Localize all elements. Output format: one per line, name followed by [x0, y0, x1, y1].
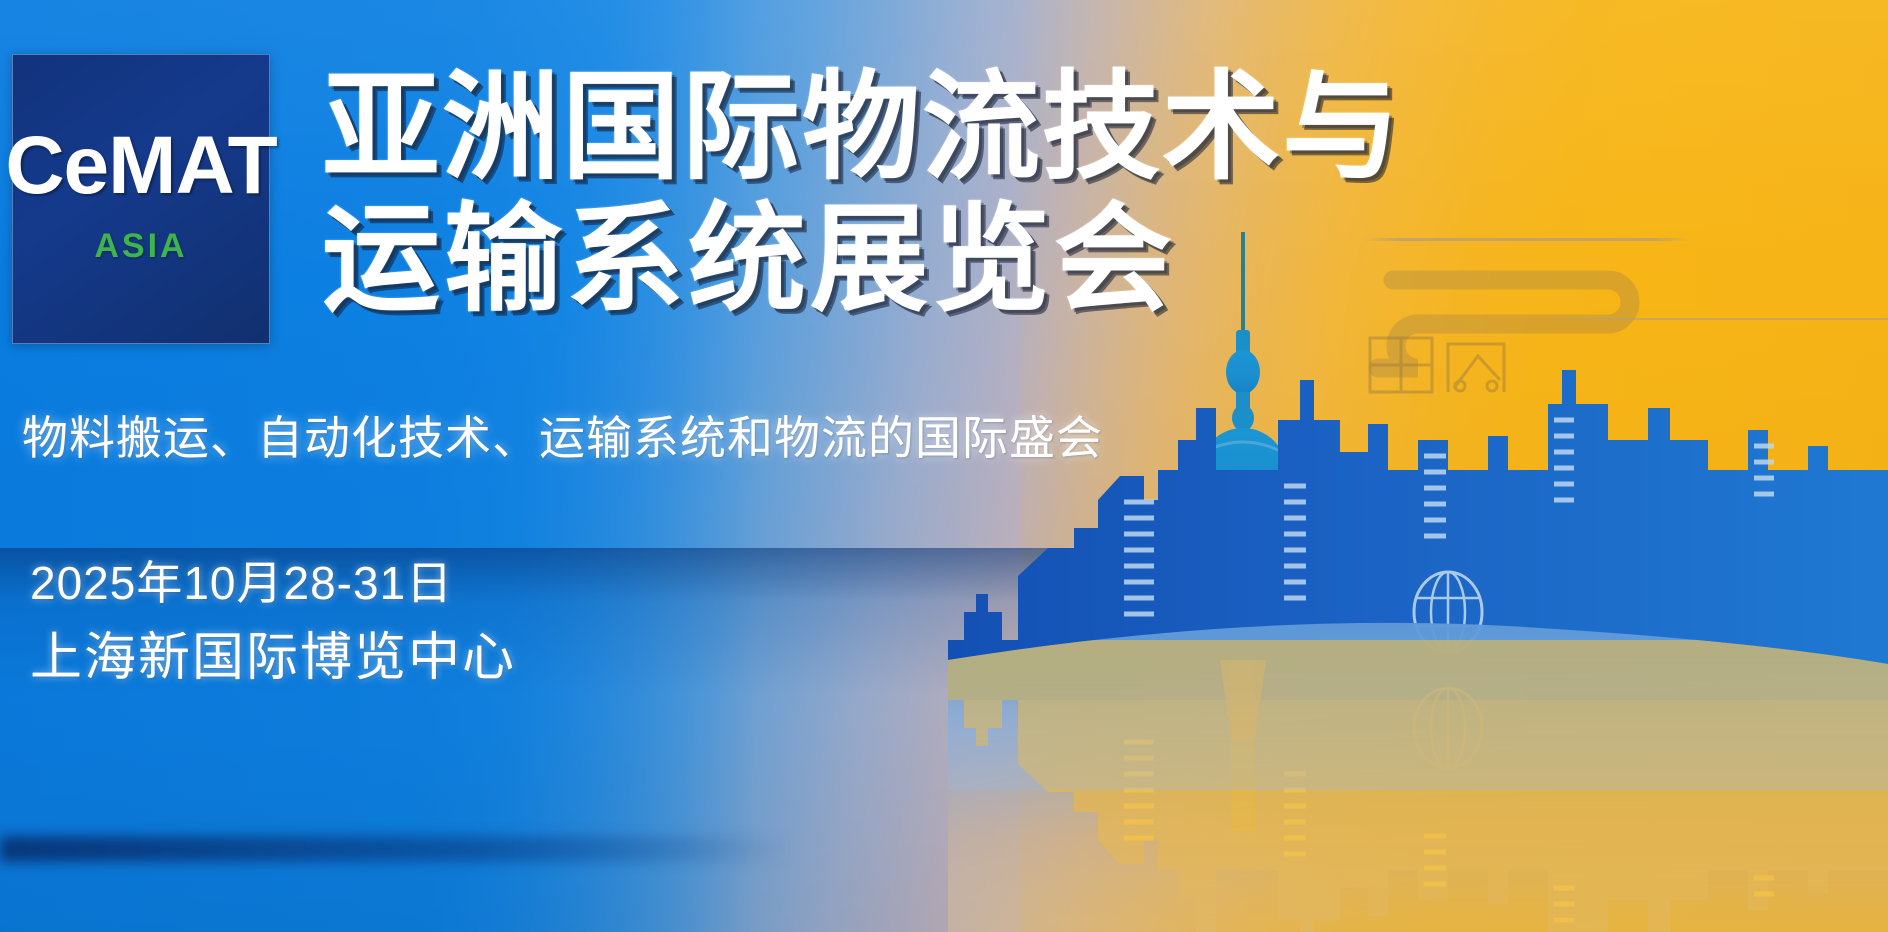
- headline-line-1: 亚洲国际物流技术与: [322, 62, 1572, 194]
- event-details: 2025年10月28-31日 上海新国际博览中心: [30, 548, 516, 697]
- decorative-rule-second: [1540, 318, 1888, 320]
- cemat-asia-banner: CeMAT ASIA 亚洲国际物流技术与 运输系统展览会 物料搬运、自动化技术、…: [0, 0, 1888, 932]
- event-venue: 上海新国际博览中心: [30, 619, 516, 697]
- headline-line-2: 运输系统展览会: [322, 194, 1572, 326]
- forklift-icon: [1448, 344, 1504, 392]
- cemat-logo: CeMAT ASIA: [12, 54, 270, 344]
- subtitle: 物料搬运、自动化技术、运输系统和物流的国际盛会: [22, 402, 1103, 468]
- logo-brand-text: CeMAT: [5, 125, 276, 207]
- logo-region-text: ASIA: [94, 229, 187, 263]
- event-date: 2025年10月28-31日: [30, 548, 516, 619]
- window-grid-icon: [1370, 338, 1432, 392]
- water-haze: [948, 623, 1888, 790]
- headline: 亚洲国际物流技术与 运输系统展览会: [322, 62, 1572, 326]
